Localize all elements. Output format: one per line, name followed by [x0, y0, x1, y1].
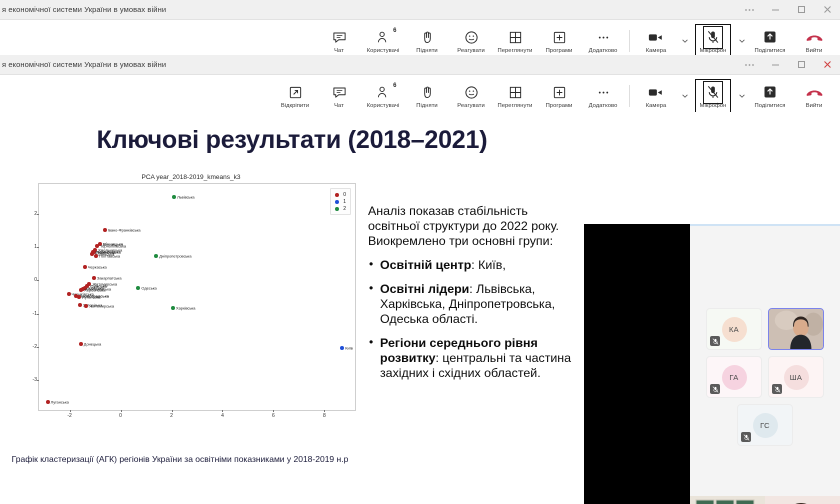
y-axis-tick-mark — [37, 347, 39, 348]
restore-icon[interactable] — [788, 55, 814, 75]
participant-tile-row: КА — [690, 308, 840, 350]
slide-bullet-1: Освітні лідери: Львівська, Харківська, Д… — [368, 282, 574, 327]
hangup-icon — [805, 29, 824, 46]
scatter-point-label: Луганська — [82, 295, 100, 300]
scatter-point-label: Львівська — [177, 194, 194, 199]
mic-muted-icon — [710, 384, 720, 394]
slide-paragraph: Аналіз показав стабільність освітньої ст… — [368, 204, 574, 249]
close-icon[interactable] — [814, 0, 840, 20]
scatter-point — [94, 254, 98, 258]
scatter-point — [92, 276, 96, 280]
window-controls-2 — [736, 55, 840, 75]
toolbar-share-button[interactable]: Поділитися — [748, 76, 792, 116]
video-person-left — [690, 496, 765, 504]
scatter-point — [83, 265, 87, 269]
legend-color-swatch — [335, 207, 339, 211]
view-grid-icon — [508, 29, 523, 46]
people-count-badge: 6 — [393, 28, 396, 34]
shared-content-stage: Ключові результати (2018–2021) PCA year_… — [0, 112, 840, 504]
scatter-point — [103, 228, 107, 232]
toolbar-more-label: Додатково — [589, 48, 618, 54]
apps-plus-icon — [552, 84, 567, 101]
participant-tile-га[interactable]: ГА — [706, 356, 762, 398]
toolbar-leave-label: Вийти — [806, 48, 823, 54]
mic-off-icon — [706, 29, 720, 46]
chat-icon — [332, 29, 347, 46]
toolbar-leave-label: Вийти — [806, 103, 823, 109]
toolbar-microphone-button[interactable]: Мікрофон — [691, 76, 735, 116]
participant-tile-ша[interactable]: ША — [768, 356, 824, 398]
scatter-point — [77, 295, 81, 299]
y-axis-tick-mark — [37, 280, 39, 281]
toolbar-react-label: Реагувати — [457, 103, 485, 109]
people-icon: 6 — [376, 29, 391, 46]
y-axis-tick-mark — [37, 247, 39, 248]
more-options-icon[interactable] — [736, 55, 762, 75]
chat-icon — [332, 84, 347, 101]
chart-title: PCA year_2018-2019_kmeans_k3 — [26, 174, 356, 181]
toolbar-apps-label: Програми — [546, 48, 573, 54]
toolbar-people-label: Користувачі — [367, 103, 400, 109]
toolbar-chat-label: Чат — [334, 103, 344, 109]
toolbar-raisehand-button[interactable]: Підняти — [405, 76, 449, 116]
mic-off-icon — [706, 84, 720, 101]
window-titlebar-1: я економічної системи України в умовах в… — [0, 0, 840, 20]
toolbar-view-label: Переглянути — [498, 103, 533, 109]
slide-bullet-0: Освітній центр: Київ, — [368, 258, 574, 273]
bullet-lead: Освітній центр — [380, 258, 471, 272]
more-dots-icon — [596, 84, 611, 101]
presentation-slide: Ключові результати (2018–2021) PCA year_… — [0, 112, 584, 504]
toolbar-leave-button[interactable]: Вийти — [792, 76, 836, 116]
toolbar-popout-label: Відкріпити — [281, 103, 309, 109]
microphone-chevron-down-icon[interactable] — [735, 76, 748, 116]
react-icon — [464, 29, 479, 46]
scatter-point-label: Закарпатська — [97, 276, 121, 281]
toolbar-apps-label: Програми — [546, 103, 573, 109]
x-axis-tick-mark — [172, 410, 173, 412]
toolbar-divider — [629, 30, 630, 52]
legend-item-2: 2 — [335, 205, 346, 212]
toolbar-more-label: Додатково — [589, 103, 618, 109]
slide-text-panel: Аналіз показав стабільність освітньої ст… — [368, 204, 574, 391]
scatter-point — [46, 400, 50, 404]
raise-hand-icon — [420, 29, 435, 46]
chart-plot-area: 0 1 2 210-1-2-3-202468Івано-ФранківськаВ… — [38, 183, 356, 411]
participant-tile-video[interactable] — [768, 308, 824, 350]
y-axis-tick-mark — [37, 214, 39, 215]
x-axis-tick-label: 0 — [119, 413, 122, 419]
toolbar-apps-button[interactable]: Програми — [537, 76, 581, 116]
camera-off-icon — [648, 29, 664, 46]
participant-tile-гс[interactable]: ГС — [737, 404, 793, 446]
share-screen-icon — [763, 84, 777, 101]
avatar: ГС — [753, 413, 778, 438]
raise-hand-icon — [420, 84, 435, 101]
legend-color-swatch — [335, 193, 339, 197]
toolbar-react-label: Реагувати — [457, 48, 485, 54]
x-axis-tick-label: 2 — [170, 413, 173, 419]
main-video-tiles — [690, 496, 840, 504]
scatter-point-label: Дніпропетровська — [159, 254, 191, 259]
legend-item-0: 0 — [335, 191, 346, 198]
stage-letterbox — [584, 224, 690, 504]
pca-scatter-chart: PCA year_2018-2019_kmeans_k3 0 1 — [26, 174, 356, 444]
video-tile-left[interactable] — [690, 496, 765, 504]
hangup-icon — [805, 84, 824, 101]
rail-top-divider — [690, 224, 840, 226]
bullet-lead: Освітні лідери — [380, 282, 469, 296]
toolbar-raisehand-label: Підняти — [416, 48, 437, 54]
window-controls-1 — [736, 0, 840, 20]
participant-tile-row: ГС — [690, 404, 840, 446]
restore-icon[interactable] — [788, 0, 814, 20]
participants-rail: КАГАШАГС — [690, 224, 840, 504]
camera-off-icon — [648, 84, 664, 101]
toolbar-react-button[interactable]: Реагувати — [449, 76, 493, 116]
toolbar-people-button[interactable]: 6 Користувачі — [361, 76, 405, 116]
minimize-icon[interactable] — [762, 0, 788, 20]
x-axis-tick-mark — [324, 410, 325, 412]
slide-title: Ключові результати (2018–2021) — [0, 126, 584, 155]
x-axis-tick-label: 6 — [272, 413, 275, 419]
toolbar-camera-label: Камера — [646, 103, 667, 109]
view-grid-icon — [508, 84, 523, 101]
mic-muted-icon — [741, 432, 751, 442]
x-axis-tick-mark — [70, 410, 71, 412]
people-icon: 6 — [376, 84, 391, 101]
x-axis-tick-mark — [121, 410, 122, 412]
toolbar-popout-button[interactable]: Відкріпити — [273, 76, 317, 116]
scatter-point — [154, 254, 158, 258]
legend-label: 1 — [343, 199, 346, 205]
scatter-point-label: Одеська — [141, 286, 156, 291]
participant-tile-row: ГАША — [690, 356, 840, 398]
scatter-point — [79, 342, 83, 346]
window-title-2: я економічної системи України в умовах в… — [0, 60, 166, 69]
video-person-right — [765, 496, 840, 504]
legend-label: 2 — [343, 206, 346, 212]
toolbar-divider — [629, 85, 630, 107]
window-titlebar-2: я економічної системи України в умовах в… — [0, 55, 840, 75]
react-icon — [464, 84, 479, 101]
scatter-point-label: Полтавська — [99, 254, 120, 259]
window-title: я економічної системи України в умовах в… — [0, 5, 166, 14]
toolbar-view-button[interactable]: Переглянути — [493, 76, 537, 116]
legend-color-swatch — [335, 200, 339, 204]
x-axis-tick-label: -2 — [67, 413, 71, 419]
toolbar-view-label: Переглянути — [498, 48, 533, 54]
scatter-point — [78, 303, 82, 307]
people-count-badge: 6 — [393, 83, 396, 89]
toolbar-chat-button[interactable]: Чат — [317, 76, 361, 116]
minimize-icon[interactable] — [762, 55, 788, 75]
scatter-point — [340, 346, 344, 350]
toolbar-share-label: Поділитися — [755, 48, 786, 54]
avatar: ГА — [722, 365, 747, 390]
x-axis-tick-label: 8 — [323, 413, 326, 419]
avatar: КА — [722, 317, 747, 342]
chart-legend: 0 1 2 — [330, 188, 351, 215]
toolbar-chat-label: Чат — [334, 48, 344, 54]
toolbar-raisehand-label: Підняти — [416, 103, 437, 109]
participant-tile-ка[interactable]: КА — [706, 308, 762, 350]
toolbar-people-label: Користувачі — [367, 48, 400, 54]
more-dots-icon — [596, 29, 611, 46]
scatter-point-label: Київ — [345, 345, 353, 350]
scatter-point — [84, 304, 88, 308]
close-icon[interactable] — [814, 55, 840, 75]
participant-tiles: КАГАШАГС — [690, 308, 840, 452]
scatter-point — [172, 195, 176, 199]
toolbar-share-label: Поділитися — [755, 103, 786, 109]
chart-caption: Графік кластеризації (АГК) регіонів Укра… — [10, 454, 350, 465]
mic-muted-icon — [710, 336, 720, 346]
participant-video-feed — [769, 308, 823, 350]
scatter-point-label: Донецька — [84, 342, 101, 347]
more-options-icon[interactable] — [736, 0, 762, 20]
avatar: ША — [784, 365, 809, 390]
teams-meeting-window: я економічної системи України в умовах в… — [0, 0, 840, 504]
camera-chevron-down-icon[interactable] — [678, 76, 691, 116]
slide-bullet-list: Освітній центр: Київ,Освітні лідери: Льв… — [368, 258, 574, 382]
apps-plus-icon — [552, 29, 567, 46]
toolbar-camera-button[interactable]: Камера — [634, 76, 678, 116]
scatter-point — [171, 306, 175, 310]
scatter-point-label: Харківська — [176, 306, 195, 311]
scatter-point-label: Івано-Франківська — [108, 227, 141, 232]
legend-label: 0 — [343, 192, 346, 198]
share-screen-icon — [763, 29, 777, 46]
scatter-point-label: Луганська — [51, 400, 69, 405]
toolbar-more-button[interactable]: Додатково — [581, 76, 625, 116]
legend-item-1: 1 — [335, 198, 346, 205]
toolbar-camera-label: Камера — [646, 48, 667, 54]
x-axis-tick-mark — [273, 410, 274, 412]
slide-bullet-2: Регіони середнього рівня розвитку: центр… — [368, 336, 574, 381]
video-tile-right[interactable] — [765, 496, 840, 504]
y-axis-tick-mark — [37, 380, 39, 381]
popout-icon — [288, 84, 303, 101]
scatter-point-label: Житомирська — [89, 303, 114, 308]
x-axis-tick-mark — [222, 410, 223, 412]
scatter-point-label: Черкаська — [88, 265, 107, 270]
scatter-point — [67, 292, 71, 296]
y-axis-tick-mark — [37, 314, 39, 315]
mic-muted-icon — [772, 384, 782, 394]
scatter-point — [136, 286, 140, 290]
bullet-rest: : Київ, — [471, 258, 506, 272]
x-axis-tick-label: 4 — [221, 413, 224, 419]
